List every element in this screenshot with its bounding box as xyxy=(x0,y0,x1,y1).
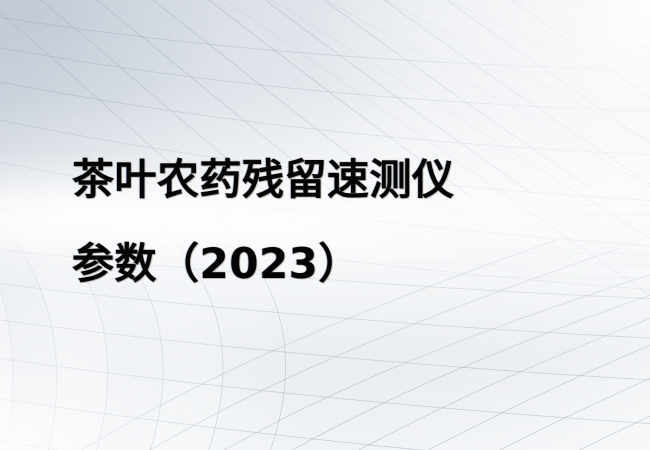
title-line-1: 茶叶农药残留速测仪 xyxy=(72,138,592,222)
title-card: 茶叶农药残留速测仪 参数（2023） xyxy=(0,0,650,450)
title-line-2: 参数（2023） xyxy=(72,222,592,306)
page-title: 茶叶农药残留速测仪 参数（2023） xyxy=(72,138,592,306)
